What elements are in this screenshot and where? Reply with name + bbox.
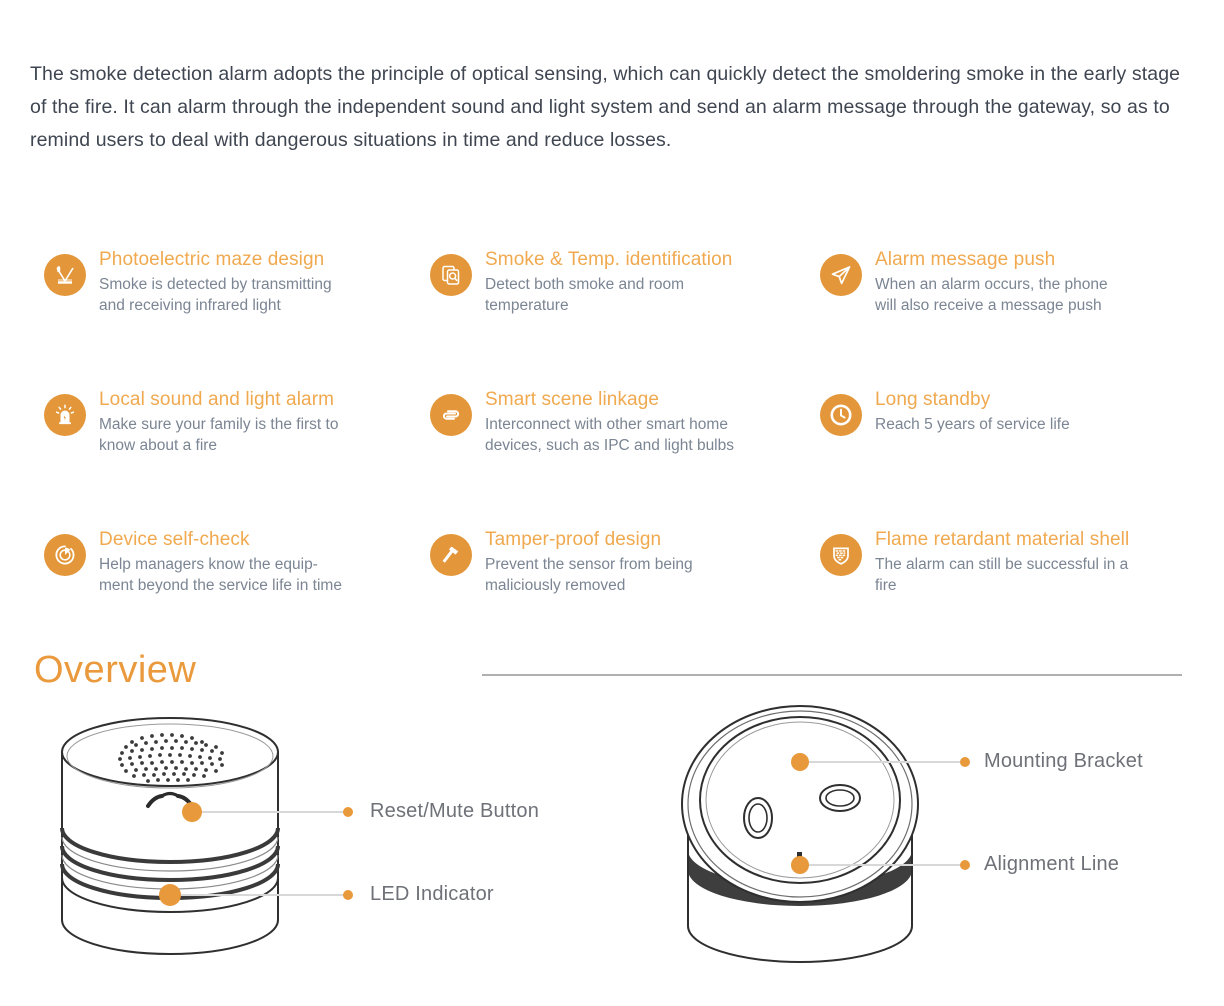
feature-title: Photoelectric maze design bbox=[99, 248, 414, 272]
feature-card-tamper-proof-design: Tamper-proof design Prevent the sensor f… bbox=[430, 528, 800, 596]
feature-row: Local sound and light alarm Make sure yo… bbox=[0, 388, 1224, 528]
siren-alarm-icon bbox=[44, 394, 86, 436]
feature-text: Smoke & Temp. identification Detect both… bbox=[485, 248, 800, 316]
feature-description: Help managers know the equip- ment beyon… bbox=[99, 555, 414, 596]
callout-label-alignment-line: Alignment Line bbox=[984, 853, 1119, 876]
page-title: Overview bbox=[34, 646, 196, 694]
scene-linkage-icon bbox=[430, 394, 472, 436]
shield-brick-icon bbox=[820, 534, 862, 576]
feature-description: Detect both smoke and room temperature bbox=[485, 275, 800, 316]
feature-card-flame-retardant-material-shell: Flame retardant material shell The alarm… bbox=[820, 528, 1190, 596]
feature-title: Flame retardant material shell bbox=[875, 528, 1190, 552]
feature-title: Long standby bbox=[875, 388, 1190, 412]
feature-title: Smoke & Temp. identification bbox=[485, 248, 800, 272]
feature-description: When an alarm occurs, the phone will als… bbox=[875, 275, 1190, 316]
feature-grid: Photoelectric maze design Smoke is detec… bbox=[0, 248, 1224, 668]
hammer-icon bbox=[430, 534, 472, 576]
diagram-side-view: Reset/Mute Button LED Indicator bbox=[40, 700, 640, 995]
section-divider bbox=[482, 674, 1182, 676]
feature-text: Flame retardant material shell The alarm… bbox=[875, 528, 1190, 596]
feature-text: Photoelectric maze design Smoke is detec… bbox=[99, 248, 414, 316]
feature-card-photoelectric-maze-design: Photoelectric maze design Smoke is detec… bbox=[44, 248, 414, 316]
clock-icon bbox=[820, 394, 862, 436]
feature-description: Make sure your family is the first to kn… bbox=[99, 415, 414, 456]
diagram-bottom-view: Mounting Bracket Alignment Line bbox=[672, 700, 1224, 995]
overview-section-header: Overview bbox=[0, 646, 1224, 706]
feature-text: Long standby Reach 5 years of service li… bbox=[875, 388, 1190, 436]
callout-label-mounting-bracket: Mounting Bracket bbox=[984, 750, 1143, 773]
feature-card-smoke-temp-identification: Smoke & Temp. identification Detect both… bbox=[430, 248, 800, 316]
feature-title: Local sound and light alarm bbox=[99, 388, 414, 412]
feature-description: Interconnect with other smart home devic… bbox=[485, 415, 800, 456]
intro-paragraph: The smoke detection alarm adopts the pri… bbox=[30, 58, 1198, 157]
feature-description: Reach 5 years of service life bbox=[875, 415, 1190, 436]
feature-card-device-self-check: Device self-check Help managers know the… bbox=[44, 528, 414, 596]
feature-title: Smart scene linkage bbox=[485, 388, 800, 412]
feature-text: Smart scene linkage Interconnect with ot… bbox=[485, 388, 800, 456]
send-message-icon bbox=[820, 254, 862, 296]
feature-card-smart-scene-linkage: Smart scene linkage Interconnect with ot… bbox=[430, 388, 800, 456]
feature-title: Device self-check bbox=[99, 528, 414, 552]
feature-title: Alarm message push bbox=[875, 248, 1190, 272]
document-search-icon bbox=[430, 254, 472, 296]
feature-description: Smoke is detected by transmitting and re… bbox=[99, 275, 414, 316]
feature-row: Photoelectric maze design Smoke is detec… bbox=[0, 248, 1224, 388]
callout-label-reset-mute-button: Reset/Mute Button bbox=[370, 800, 539, 823]
feature-title: Tamper-proof design bbox=[485, 528, 800, 552]
feature-text: Local sound and light alarm Make sure yo… bbox=[99, 388, 414, 456]
feature-description: Prevent the sensor from being maliciousl… bbox=[485, 555, 800, 596]
feature-description: The alarm can still be successful in a f… bbox=[875, 555, 1190, 596]
photoelectric-maze-icon bbox=[44, 254, 86, 296]
feature-card-long-standby: Long standby Reach 5 years of service li… bbox=[820, 388, 1190, 436]
self-check-icon bbox=[44, 534, 86, 576]
product-diagrams: Reset/Mute Button LED Indicator bbox=[0, 700, 1224, 1000]
feature-card-alarm-message-push: Alarm message push When an alarm occurs,… bbox=[820, 248, 1190, 316]
feature-text: Alarm message push When an alarm occurs,… bbox=[875, 248, 1190, 316]
feature-text: Device self-check Help managers know the… bbox=[99, 528, 414, 596]
callout-label-led-indicator: LED Indicator bbox=[370, 883, 494, 906]
feature-card-local-sound-and-light-alarm: Local sound and light alarm Make sure yo… bbox=[44, 388, 414, 456]
feature-text: Tamper-proof design Prevent the sensor f… bbox=[485, 528, 800, 596]
